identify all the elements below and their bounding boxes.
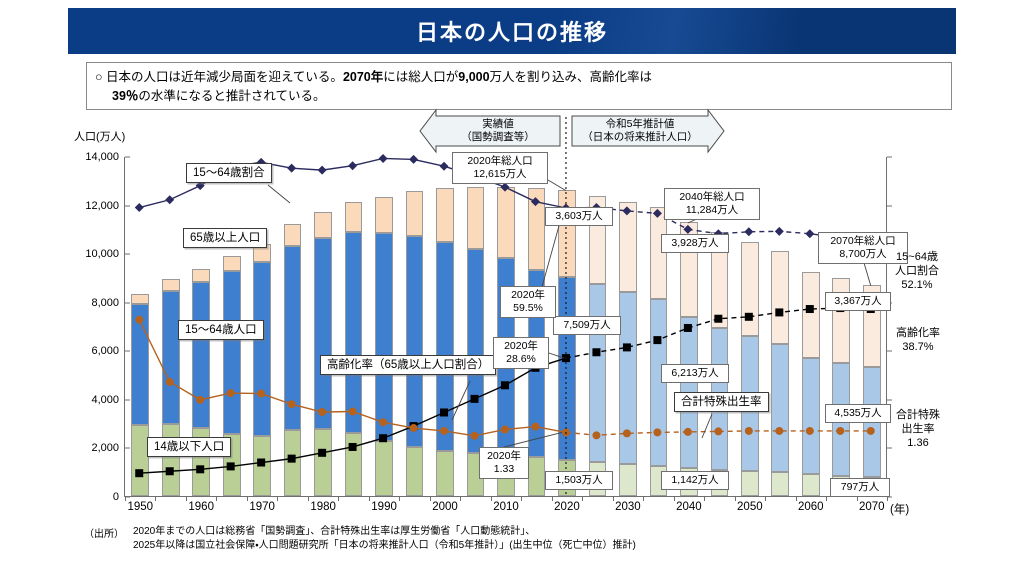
note-work-2020-label: 7,509万人 xyxy=(563,319,610,331)
note-share-2020: 2020年 59.5% xyxy=(500,286,556,318)
page-title: 日本の人口の推移 xyxy=(416,15,608,47)
x-axis-tick xyxy=(186,496,187,501)
bar-1980 xyxy=(314,212,332,496)
bar-2055 xyxy=(771,251,789,496)
bar-segment xyxy=(406,447,424,496)
callout-pop-65plus: 65歳以上人口 xyxy=(183,228,267,248)
note-total-2020-line2: 12,615万人 xyxy=(458,168,542,181)
right-label-fertility-line1: 合計特殊 xyxy=(896,408,940,422)
right-label-share-line2: 人口割合 xyxy=(895,264,939,278)
secondary-y-axis-tick xyxy=(887,448,892,449)
x-axis-tick xyxy=(735,496,736,501)
note-old-2020: 3,603万人 xyxy=(545,207,613,226)
x-axis-tick xyxy=(247,496,248,501)
secondary-y-axis-tick xyxy=(887,351,892,352)
y-axis-tick-label: 8,000 xyxy=(91,297,125,309)
x-axis-tick-label: 2020 xyxy=(554,501,580,513)
x-axis-tick-label: 1960 xyxy=(188,501,214,513)
y-axis-tick-label: 14,000 xyxy=(85,151,125,163)
bar-segment xyxy=(436,451,454,496)
bar-segment xyxy=(314,212,332,238)
bar-1950 xyxy=(131,294,149,496)
bar-segment xyxy=(131,294,149,304)
summary-line-2: 39％の水準になると推計されている。 xyxy=(95,87,943,106)
note-fertility-2020-line2: 1.33 xyxy=(485,463,523,476)
right-label-fertility-line2: 出生率 xyxy=(896,422,940,436)
bar-segment xyxy=(375,441,393,496)
bar-segment xyxy=(619,464,637,496)
x-axis-tick xyxy=(582,496,583,501)
x-axis-tick xyxy=(613,496,614,501)
bar-segment xyxy=(223,271,241,434)
era-forecast-line1: 令和5年推計値 xyxy=(572,118,708,131)
note-aging-2020-line1: 2020年 xyxy=(499,340,543,353)
bar-segment xyxy=(771,472,789,496)
y-axis-tick xyxy=(125,399,130,400)
bar-1995 xyxy=(406,191,424,496)
note-young-2070: 797万人 xyxy=(830,478,890,497)
x-axis-tick xyxy=(369,496,370,501)
x-axis-tick xyxy=(338,496,339,501)
bar-2030 xyxy=(619,202,637,496)
y-axis-tick-label: 0 xyxy=(113,491,125,503)
x-axis-tick xyxy=(552,496,553,501)
x-axis-tick-label: 1980 xyxy=(310,501,336,513)
secondary-y-axis-tick xyxy=(887,157,892,158)
bar-segment xyxy=(131,425,149,496)
bar-1985 xyxy=(345,202,363,496)
bar-segment xyxy=(375,233,393,442)
bar-segment xyxy=(741,471,759,496)
bar-2000 xyxy=(436,188,454,496)
callout-pop-14under: 14歳以下人口 xyxy=(147,437,231,457)
bar-segment xyxy=(345,202,363,232)
x-axis-tick-label: 2060 xyxy=(798,501,824,513)
note-old-2020-label: 3,603万人 xyxy=(555,210,602,222)
note-work-2070: 4,535万人 xyxy=(825,404,891,423)
x-axis-tick xyxy=(430,496,431,501)
note-work-2040: 6,213万人 xyxy=(661,364,729,383)
right-label-aging-line2: 38.7% xyxy=(896,340,940,354)
x-axis-tick xyxy=(155,496,156,501)
summary-line-1: ○ 日本の人口は近年減少局面を迎えている。2070年には総人口が9,000万人を… xyxy=(95,68,943,87)
y-axis-tick-label: 6,000 xyxy=(91,345,125,357)
bar-segment xyxy=(802,358,820,474)
right-label-aging-line1: 高齢化率 xyxy=(896,326,940,340)
y-axis-tick xyxy=(125,157,130,158)
right-label-aging: 高齢化率 38.7% xyxy=(896,326,940,354)
source-line-1: 2020年までの人口は総務省「国勢調査」、合計特殊出生率は厚生労働省「人口動態統… xyxy=(133,525,636,539)
note-total-2070-line1: 2070年総人口 xyxy=(824,235,902,248)
bar-segment xyxy=(192,269,210,282)
bar-2050 xyxy=(741,242,759,496)
callout-share-1564-label: 15～64歳割合 xyxy=(193,167,265,179)
bar-segment xyxy=(832,278,850,363)
right-label-share: 15~64歳 人口割合 52.1% xyxy=(895,250,939,292)
x-axis-tick xyxy=(216,496,217,501)
summary-text-d: 9,000 xyxy=(458,70,489,84)
bar-segment xyxy=(406,236,424,448)
x-axis-tick-label: 2010 xyxy=(493,501,519,513)
summary-text-b: 2070年 xyxy=(343,70,383,84)
bar-segment xyxy=(802,474,820,496)
era-actual-line2: （国勢調査等） xyxy=(436,131,560,144)
page-title-bar: 日本の人口の推移 xyxy=(68,8,956,54)
note-share-2020-line1: 2020年 xyxy=(506,289,550,302)
y-axis-tick-label: 2,000 xyxy=(91,442,125,454)
bar-2020 xyxy=(558,190,576,496)
bar-segment xyxy=(284,430,302,496)
bar-segment xyxy=(467,187,485,250)
bar-segment xyxy=(436,242,454,451)
y-axis-tick xyxy=(125,254,130,255)
bar-segment xyxy=(345,433,363,496)
bar-segment xyxy=(619,292,637,464)
bar-segment xyxy=(771,344,789,472)
x-axis-tick xyxy=(491,496,492,501)
note-aging-2020-line2: 28.6% xyxy=(499,353,543,366)
bar-segment xyxy=(436,188,454,242)
right-label-fertility-line3: 1.36 xyxy=(896,436,940,450)
x-axis-tick xyxy=(521,496,522,501)
bar-segment xyxy=(253,262,271,436)
x-axis-tick xyxy=(796,496,797,501)
y-axis-tick xyxy=(125,448,130,449)
summary-text-e: 万人を割り込み、高齢化率は xyxy=(490,70,653,84)
bar-1965 xyxy=(223,256,241,496)
callout-pop-65plus-label: 65歳以上人口 xyxy=(190,232,260,244)
note-aging-2020: 2020年 28.6% xyxy=(493,337,549,369)
x-axis-tick-label: 2000 xyxy=(432,501,458,513)
summary-text-a: 日本の人口は近年減少局面を迎えている。 xyxy=(106,70,343,84)
bar-segment xyxy=(314,238,332,429)
note-old-2040-label: 3,928万人 xyxy=(671,237,718,249)
bar-2070 xyxy=(863,285,881,496)
callout-aging-rate-label: 高齢化率（65歳以上人口割合） xyxy=(327,359,489,371)
era-forecast-line2: （日本の将来推計人口） xyxy=(572,131,708,144)
source-line-2: 2025年以降は国立社会保障・人口問題研究所「日本の将来推計人口（令和5年推計）… xyxy=(133,539,636,553)
callout-fertility: 合計特殊出生率 xyxy=(674,392,769,412)
note-share-2020-line2: 59.5% xyxy=(506,302,550,315)
bar-segment xyxy=(558,190,576,278)
bar-segment xyxy=(345,232,363,432)
bar-2040 xyxy=(680,222,698,496)
summary-bullet: ○ xyxy=(95,70,103,84)
summary-text-f: 39％ xyxy=(112,89,138,103)
bar-1955 xyxy=(162,279,180,496)
secondary-y-axis-tick xyxy=(887,399,892,400)
bar-segment xyxy=(558,277,576,459)
x-axis-tick-label: 2030 xyxy=(615,501,641,513)
x-axis-tick xyxy=(643,496,644,501)
bar-segment xyxy=(467,249,485,453)
note-young-2020-label: 1,503万人 xyxy=(555,474,602,486)
bar-segment xyxy=(771,251,789,344)
note-young-2040-label: 1,142万人 xyxy=(671,474,718,486)
x-axis-tick xyxy=(674,496,675,501)
x-axis-tick xyxy=(765,496,766,501)
bar-segment xyxy=(528,188,546,269)
note-old-2070-label: 3,367万人 xyxy=(834,295,881,307)
y-axis-title: 人口(万人) xyxy=(74,128,125,144)
bar-segment xyxy=(192,282,210,428)
x-axis-tick xyxy=(826,496,827,501)
source-prefix: （出所） xyxy=(84,525,124,540)
summary-text-box: ○ 日本の人口は近年減少局面を迎えている。2070年には総人口が9,000万人を… xyxy=(86,62,952,110)
bar-2025 xyxy=(589,196,607,496)
callout-fertility-label: 合計特殊出生率 xyxy=(681,396,762,408)
bar-segment xyxy=(162,279,180,291)
x-axis-tick xyxy=(460,496,461,501)
callout-aging-rate: 高齢化率（65歳以上人口割合） xyxy=(320,355,496,375)
note-total-2020: 2020年総人口 12,615万人 xyxy=(452,152,548,184)
x-axis-unit: (年) xyxy=(890,501,909,517)
bar-segment xyxy=(253,436,271,496)
callout-pop-1564: 15～64歳人口 xyxy=(178,320,264,340)
x-axis-tick-label: 2050 xyxy=(737,501,763,513)
x-axis-tick xyxy=(704,496,705,501)
bar-segment xyxy=(223,256,241,271)
bar-1970 xyxy=(253,244,271,496)
x-axis-tick-label: 2070 xyxy=(859,501,885,513)
bar-1975 xyxy=(284,224,302,496)
y-axis-tick xyxy=(125,302,130,303)
note-old-2070: 3,367万人 xyxy=(825,292,891,311)
right-label-share-line3: 52.1% xyxy=(895,278,939,292)
bar-segment xyxy=(284,224,302,246)
secondary-y-axis-tick xyxy=(887,205,892,206)
bar-segment xyxy=(497,187,515,259)
right-label-fertility: 合計特殊 出生率 1.36 xyxy=(896,408,940,450)
bar-segment xyxy=(375,197,393,233)
bar-segment xyxy=(131,304,149,425)
bar-1990 xyxy=(375,197,393,496)
bar-segment xyxy=(589,284,607,462)
note-work-2040-label: 6,213万人 xyxy=(671,367,718,379)
note-young-2040: 1,142万人 xyxy=(661,471,729,490)
note-young-2070-label: 797万人 xyxy=(841,481,880,493)
note-total-2040: 2040年総人口 11,284万人 xyxy=(664,188,760,220)
x-axis-tick xyxy=(125,496,126,501)
note-old-2040: 3,928万人 xyxy=(661,234,729,253)
callout-pop-1564-label: 15～64歳人口 xyxy=(185,324,257,336)
note-young-2020: 1,503万人 xyxy=(545,471,613,490)
note-work-2020: 7,509万人 xyxy=(553,316,621,335)
summary-text-g: の水準になると推計されている。 xyxy=(138,89,325,103)
secondary-y-axis xyxy=(886,157,887,497)
bar-segment xyxy=(528,457,546,496)
note-fertility-2020: 2020年 1.33 xyxy=(479,447,529,479)
y-axis-tick-label: 4,000 xyxy=(91,394,125,406)
x-axis-tick xyxy=(277,496,278,501)
bar-segment xyxy=(162,424,180,496)
bar-2060 xyxy=(802,272,820,496)
bar-segment xyxy=(162,291,180,424)
note-total-2040-line1: 2040年総人口 xyxy=(670,191,754,204)
note-total-2070-line2: 8,700万人 xyxy=(824,248,902,261)
era-banner-forecast: 令和5年推計値 （日本の将来推計人口） xyxy=(572,116,708,148)
note-work-2070-label: 4,535万人 xyxy=(834,407,881,419)
y-axis-tick-label: 10,000 xyxy=(85,248,125,260)
x-axis-tick xyxy=(399,496,400,501)
bar-1960 xyxy=(192,269,210,496)
note-fertility-2020-line1: 2020年 xyxy=(485,450,523,463)
x-axis-tick-label: 1970 xyxy=(249,501,275,513)
bar-segment xyxy=(619,202,637,292)
x-axis-tick-label: 2040 xyxy=(676,501,702,513)
bar-segment xyxy=(314,429,332,496)
y-axis-tick xyxy=(125,351,130,352)
x-axis-tick-label: 1950 xyxy=(127,501,153,513)
era-banner-actual: 実績値 （国勢調査等） xyxy=(436,116,560,148)
x-axis-tick xyxy=(308,496,309,501)
y-axis-tick xyxy=(125,205,130,206)
bar-segment xyxy=(406,191,424,235)
note-total-2040-line2: 11,284万人 xyxy=(670,204,754,217)
callout-share-1564: 15～64歳割合 xyxy=(186,163,272,183)
era-actual-line1: 実績値 xyxy=(436,118,560,131)
x-axis-tick-label: 1990 xyxy=(371,501,397,513)
bar-segment xyxy=(741,242,759,336)
y-axis-tick-label: 12,000 xyxy=(85,200,125,212)
right-label-share-line1: 15~64歳 xyxy=(895,250,939,264)
callout-pop-14under-label: 14歳以下人口 xyxy=(154,441,224,453)
summary-text-c: には総人口が xyxy=(383,70,458,84)
bar-segment xyxy=(284,246,302,430)
note-total-2020-line1: 2020年総人口 xyxy=(458,155,542,168)
source-text: 2020年までの人口は総務省「国勢調査」、合計特殊出生率は厚生労働省「人口動態統… xyxy=(133,525,636,553)
bar-segment xyxy=(802,272,820,358)
